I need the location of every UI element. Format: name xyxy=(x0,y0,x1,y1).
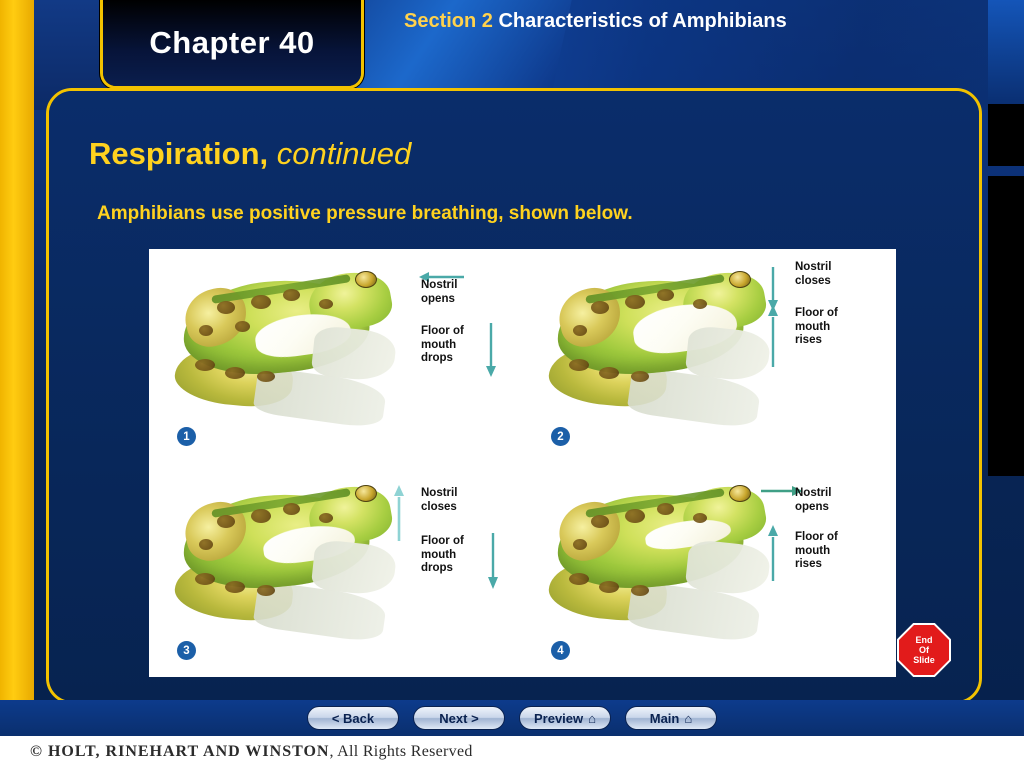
navigation-bar: < Back Next > Preview ⌂ Main ⌂ xyxy=(0,700,1024,736)
frog-spot xyxy=(625,295,645,309)
frog-spot xyxy=(569,573,589,585)
frog-illustration xyxy=(533,469,783,659)
end-of-slide-line2: Of xyxy=(919,645,929,655)
back-button[interactable]: < Back xyxy=(307,706,399,730)
end-of-slide-line3: Slide xyxy=(913,655,935,665)
frog-front-foot xyxy=(311,539,398,597)
frog-front-foot xyxy=(685,539,772,597)
frog-spot xyxy=(693,513,707,523)
frog-front-foot xyxy=(311,325,398,383)
frog-spot xyxy=(199,325,213,336)
frog-spot xyxy=(195,573,215,585)
frog-spot xyxy=(257,585,275,596)
panel-step-badge: 1 xyxy=(177,427,196,446)
frog-spot xyxy=(257,371,275,382)
panel-3-label-floor: Floor ofmouthdrops xyxy=(421,535,464,576)
frog-spot xyxy=(657,289,674,301)
frog-eye xyxy=(355,485,377,502)
footer-text: © HOLT, RINEHART AND WINSTON, All Rights… xyxy=(30,743,473,761)
figure-panel-1: Nostrilopens Floor ofmouthdrops 1 xyxy=(149,249,519,461)
frog-spot xyxy=(217,301,235,314)
panel-4-label-nostril: Nostrilopens xyxy=(795,487,831,514)
panel-step-badge: 4 xyxy=(551,641,570,660)
frog-spot xyxy=(631,585,649,596)
frog-spot xyxy=(195,359,215,371)
panel-step-badge: 2 xyxy=(551,427,570,446)
frog-spot xyxy=(283,289,300,301)
main-button-label: Main xyxy=(650,711,680,726)
frog-illustration xyxy=(159,255,409,445)
section-header: Section 2 Characteristics of Amphibians xyxy=(404,8,824,35)
next-button[interactable]: Next > xyxy=(413,706,505,730)
left-yellow-bar xyxy=(0,0,34,736)
mouth-floor-arrow-down-icon xyxy=(485,323,497,377)
frog-spot xyxy=(599,367,619,379)
frog-spot xyxy=(631,371,649,382)
figure-panel-3: Nostrilcloses Floor ofmouthdrops 3 xyxy=(149,463,519,675)
frog-spot xyxy=(225,581,245,593)
end-of-slide-line1: End xyxy=(916,635,933,645)
content-panel: Respiration, continued Amphibians use po… xyxy=(46,88,982,704)
frog-illustration xyxy=(533,255,783,445)
home-icon: ⌂ xyxy=(684,711,692,726)
content-panel-inner: Respiration, continued Amphibians use po… xyxy=(49,91,979,701)
frog-spot xyxy=(319,299,333,309)
frog-eye xyxy=(355,271,377,288)
panel-1-label-nostril: Nostrilopens xyxy=(421,279,457,306)
panel-1-label-floor: Floor ofmouthdrops xyxy=(421,325,464,366)
mouth-floor-arrow-up-icon xyxy=(767,305,779,367)
figure-panel-4: Nostrilopens Floor ofmouthrises 4 xyxy=(523,463,893,675)
frog-spot xyxy=(591,301,609,314)
page-title-main: Respiration, xyxy=(89,136,268,171)
page-title: Respiration, continued xyxy=(89,136,411,172)
frog-spot xyxy=(599,581,619,593)
panel-step-badge: 3 xyxy=(177,641,196,660)
frog-spot xyxy=(625,509,645,523)
frog-spot xyxy=(283,503,300,515)
frog-spot xyxy=(235,321,250,332)
frog-front-foot xyxy=(685,325,772,383)
right-black-strip-bottom xyxy=(988,176,1024,476)
frog-spot xyxy=(693,299,707,309)
next-button-label: Next > xyxy=(439,711,478,726)
preview-button-label: Preview xyxy=(534,711,583,726)
panel-2-label-nostril: Nostrilcloses xyxy=(795,261,831,288)
frog-spot xyxy=(199,539,213,550)
figure-panel-2: Nostrilcloses Floor ofmouthrises 2 xyxy=(523,249,893,461)
end-of-slide-button[interactable]: End Of Slide xyxy=(897,623,951,677)
frog-eye xyxy=(729,485,751,502)
frog-spot xyxy=(225,367,245,379)
panel-3-label-nostril: Nostrilcloses xyxy=(421,487,457,514)
subheading: Amphibians use positive pressure breathi… xyxy=(97,203,633,225)
frog-spot xyxy=(319,513,333,523)
frog-illustration xyxy=(159,469,409,659)
home-icon: ⌂ xyxy=(588,711,596,726)
section-title: Characteristics of Amphibians xyxy=(498,10,786,32)
frog-spot xyxy=(251,509,271,523)
back-button-label: < Back xyxy=(332,711,374,726)
frog-spot xyxy=(573,539,587,550)
footer-rights: , All Rights Reserved xyxy=(329,743,472,760)
mouth-floor-arrow-down-icon xyxy=(487,533,499,589)
preview-button[interactable]: Preview ⌂ xyxy=(519,706,611,730)
page-title-continued: continued xyxy=(277,136,411,171)
frog-spot xyxy=(657,503,674,515)
slide-root: Chapter 40 Section 2 Characteristics of … xyxy=(0,0,1024,768)
mouth-floor-arrow-up-icon xyxy=(767,525,779,581)
panel-2-label-floor: Floor ofmouthrises xyxy=(795,307,838,348)
panel-4-label-floor: Floor ofmouthrises xyxy=(795,531,838,572)
frog-spot xyxy=(591,515,609,528)
figure-positive-pressure-breathing: Nostrilopens Floor ofmouthdrops 1 xyxy=(149,249,896,677)
frog-spot xyxy=(251,295,271,309)
frog-spot xyxy=(573,325,587,336)
frog-spot xyxy=(569,359,589,371)
chapter-tab-inner: Chapter 40 xyxy=(103,0,361,86)
nostril-arrow-up-icon xyxy=(393,485,405,541)
right-black-strip-top xyxy=(988,104,1024,166)
frog-spot xyxy=(217,515,235,528)
footer-copyright: © HOLT, RINEHART AND WINSTON xyxy=(30,743,329,760)
end-of-slide-text: End Of Slide xyxy=(897,623,951,677)
section-number: Section 2 xyxy=(404,10,493,32)
right-blue-strip xyxy=(988,0,1024,104)
chapter-tab: Chapter 40 xyxy=(100,0,364,89)
chapter-label: Chapter 40 xyxy=(149,25,314,61)
main-button[interactable]: Main ⌂ xyxy=(625,706,717,730)
footer: © HOLT, RINEHART AND WINSTON, All Rights… xyxy=(0,736,1024,768)
frog-eye xyxy=(729,271,751,288)
